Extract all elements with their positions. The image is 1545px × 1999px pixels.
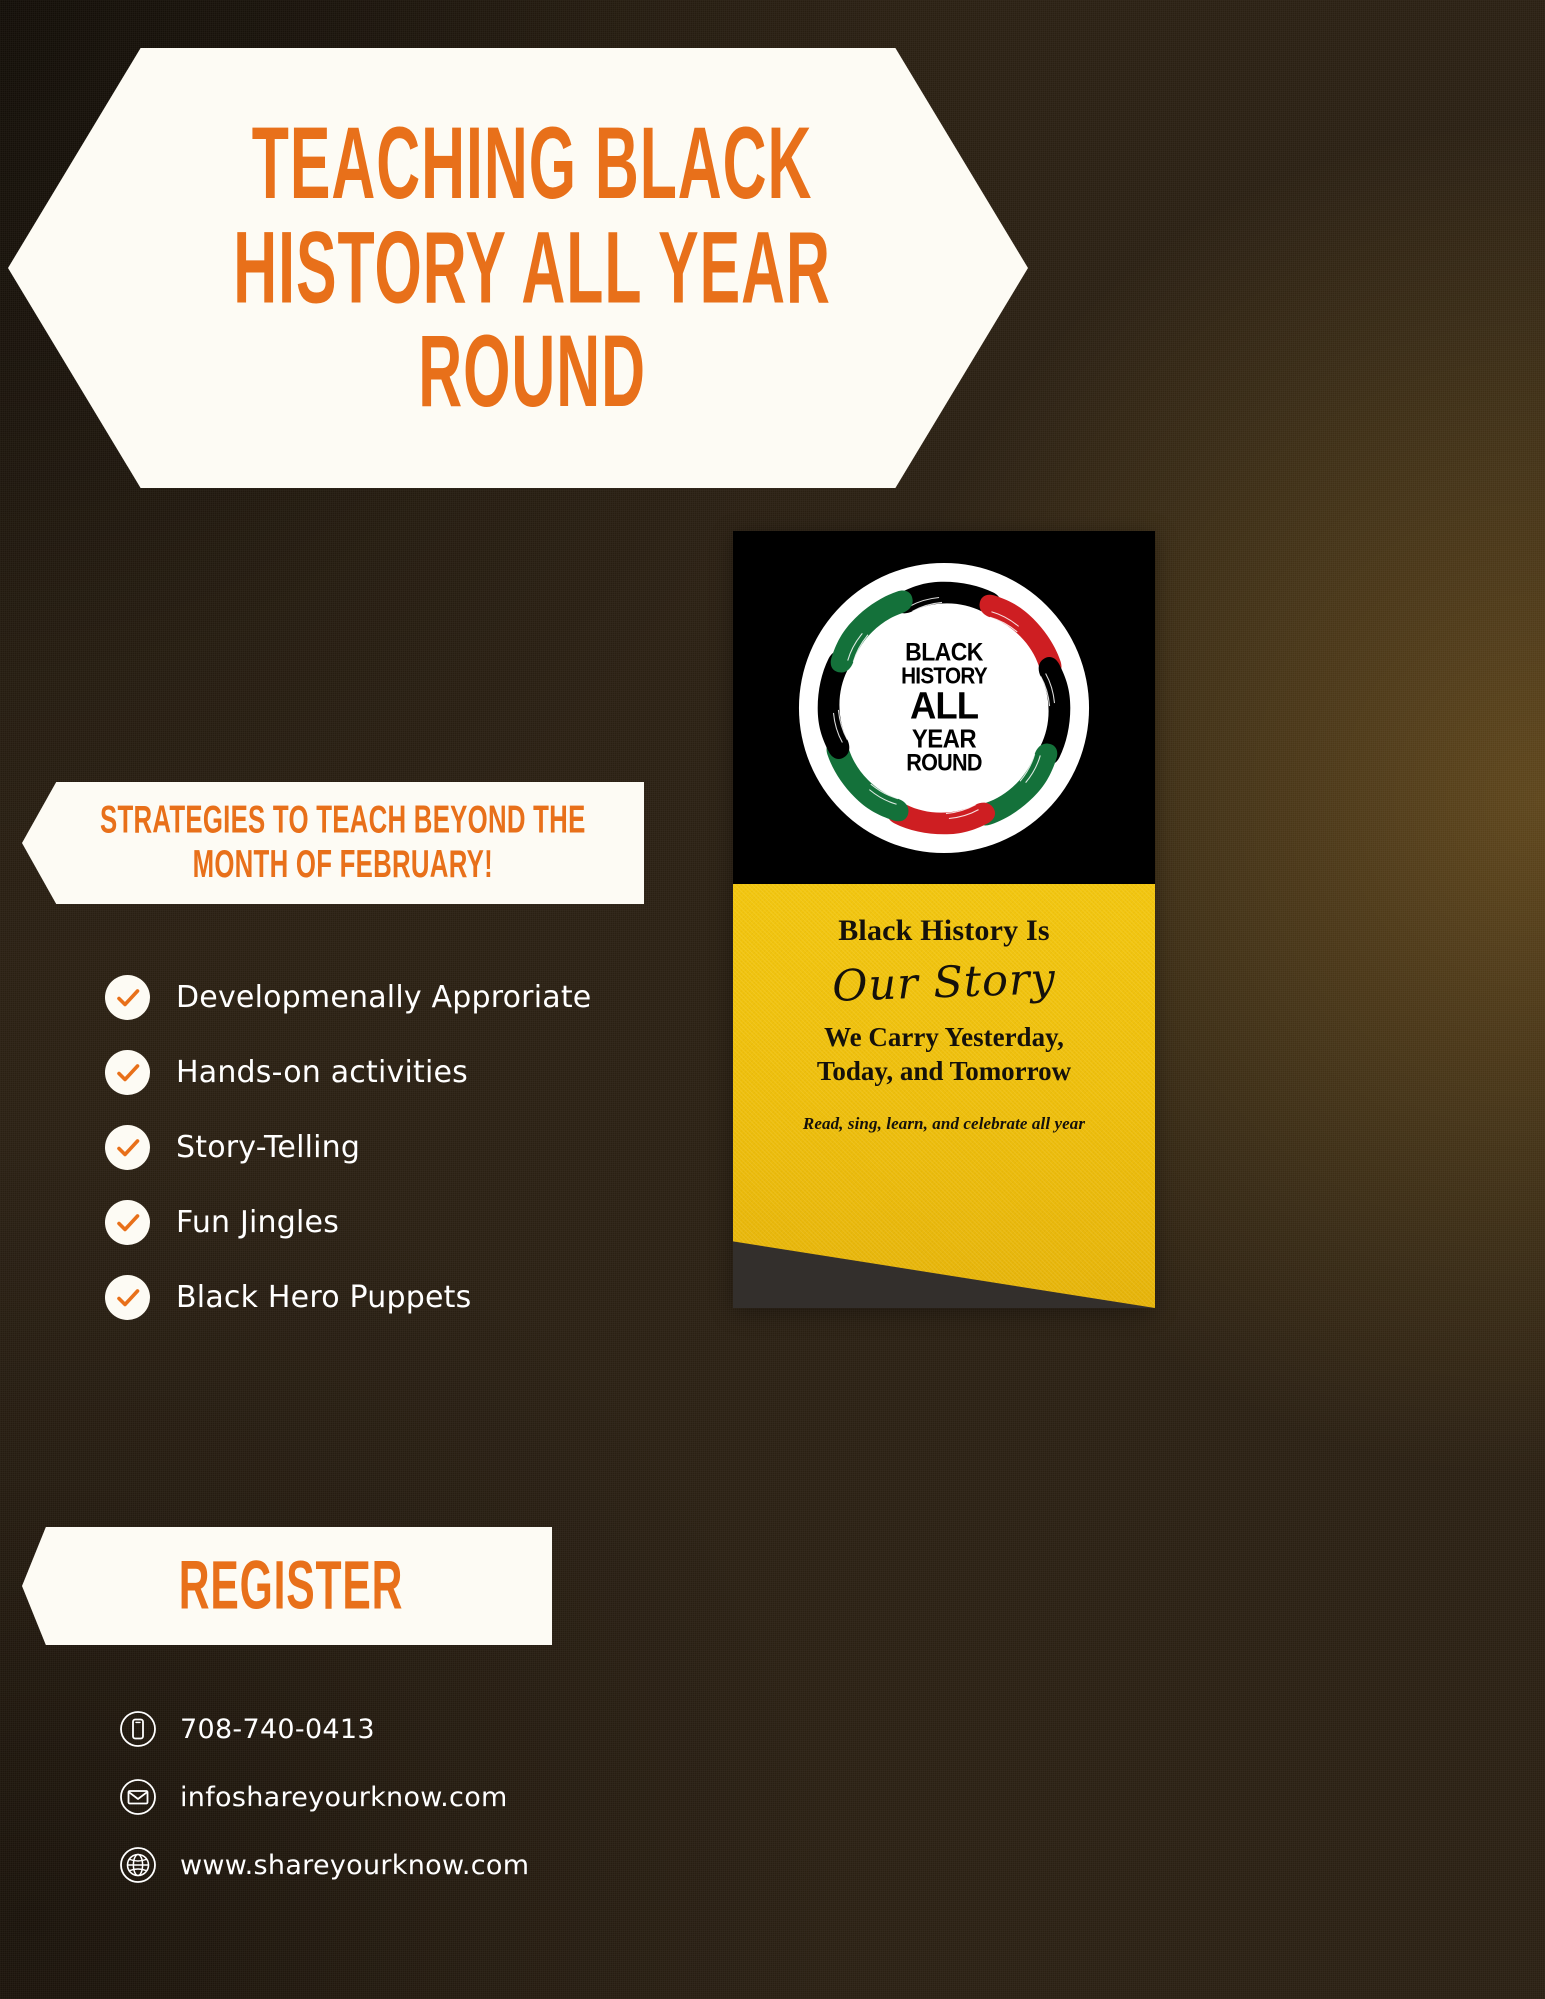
list-item-label: Fun Jingles xyxy=(176,1205,339,1240)
check-icon xyxy=(105,1200,150,1245)
poster-subhead: We Carry Yesterday, Today, and Tomorrow xyxy=(749,1020,1139,1088)
black-history-all-year-round-logo: BLACK HISTORY ALL YEAR ROUND xyxy=(796,560,1092,856)
page-title: TEACHING BLACK HISTORY ALL YEAR ROUND xyxy=(206,112,831,424)
hands-circle-icon xyxy=(796,560,1092,856)
check-icon xyxy=(105,1125,150,1170)
check-icon xyxy=(105,1275,150,1320)
list-item-label: Story-Telling xyxy=(176,1130,360,1165)
strategies-banner: STRATEGIES TO TEACH BEYOND THE MONTH OF … xyxy=(22,782,644,904)
poster-tagline: Read, sing, learn, and celebrate all yea… xyxy=(749,1114,1139,1134)
list-item: Hands-on activities xyxy=(105,1035,725,1110)
poster-logo-area: BLACK HISTORY ALL YEAR ROUND xyxy=(733,531,1155,884)
check-icon xyxy=(105,975,150,1020)
poster-message-area: Black History Is Our Story We Carry Yest… xyxy=(733,884,1155,1308)
list-item: Black Hero Puppets xyxy=(105,1260,725,1335)
list-item-label: Hands-on activities xyxy=(176,1055,468,1090)
poster-script-line: Our Story xyxy=(748,951,1140,1015)
contact-list: 708-740-0413 infoshareyourknow.com www.s… xyxy=(118,1695,738,1899)
strategies-banner-label: STRATEGIES TO TEACH BEYOND THE MONTH OF … xyxy=(81,799,585,886)
register-banner[interactable]: REGISTER xyxy=(22,1527,552,1645)
phone-number: 708-740-0413 xyxy=(180,1714,375,1745)
poster-headline: Black History Is xyxy=(749,914,1139,948)
phone-icon xyxy=(118,1709,158,1749)
title-banner: TEACHING BLACK HISTORY ALL YEAR ROUND xyxy=(8,48,1028,488)
email-icon xyxy=(118,1777,158,1817)
list-item: Developmenally Approriate xyxy=(105,960,725,1035)
contact-phone[interactable]: 708-740-0413 xyxy=(118,1695,738,1763)
poster-image: BLACK HISTORY ALL YEAR ROUND Black Histo… xyxy=(733,531,1155,1308)
list-item: Fun Jingles xyxy=(105,1185,725,1260)
list-item: Story-Telling xyxy=(105,1110,725,1185)
poster-copy: Black History Is Our Story We Carry Yest… xyxy=(733,884,1155,1134)
poster-corner-wedge xyxy=(733,1234,1155,1308)
contact-website[interactable]: www.shareyourknow.com xyxy=(118,1831,738,1899)
list-item-label: Black Hero Puppets xyxy=(176,1280,471,1315)
globe-icon xyxy=(118,1845,158,1885)
list-item-label: Developmenally Approriate xyxy=(176,980,591,1015)
check-icon xyxy=(105,1050,150,1095)
strategies-list: Developmenally Approriate Hands-on activ… xyxy=(105,960,725,1335)
website-url: www.shareyourknow.com xyxy=(180,1850,529,1881)
contact-email[interactable]: infoshareyourknow.com xyxy=(118,1763,738,1831)
register-banner-label: REGISTER xyxy=(171,1546,404,1625)
email-address: infoshareyourknow.com xyxy=(180,1782,508,1813)
